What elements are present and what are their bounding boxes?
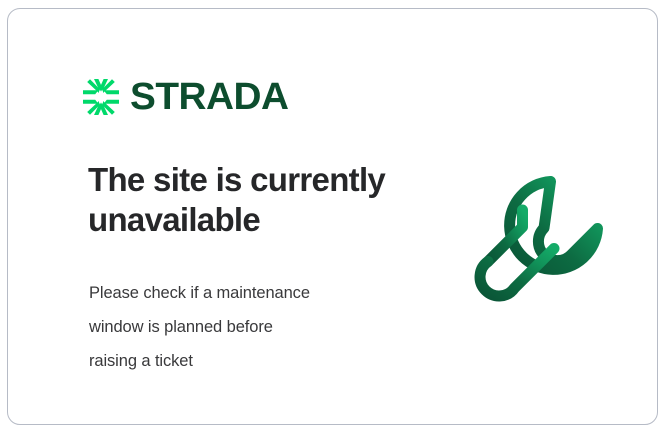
wrench-icon xyxy=(460,161,620,326)
description-line: raising a ticket xyxy=(89,345,409,379)
starburst-asterisk-icon xyxy=(81,77,121,117)
status-card: STRADA The site is currently unavailable… xyxy=(7,8,658,425)
page-root: STRADA The site is currently unavailable… xyxy=(0,0,666,436)
description-line: window is planned before xyxy=(89,311,409,345)
brand-wordmark: STRADA xyxy=(130,78,288,116)
page-title: The site is currently unavailable xyxy=(88,160,418,239)
brand-logo: STRADA xyxy=(81,77,285,117)
status-description: Please check if a maintenance window is … xyxy=(89,277,409,378)
description-line: Please check if a maintenance xyxy=(89,277,409,311)
